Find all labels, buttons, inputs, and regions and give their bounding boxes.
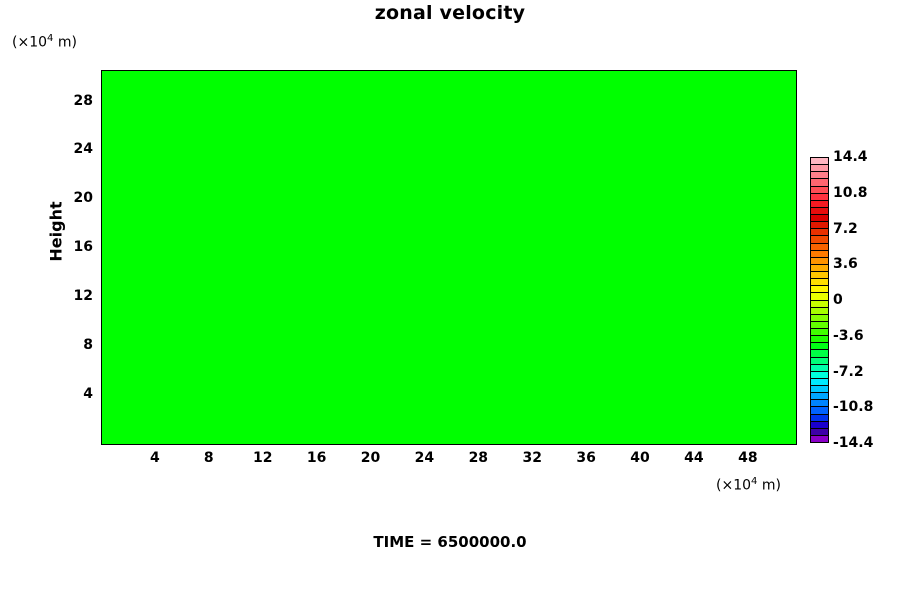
colorbar-segment — [811, 400, 828, 407]
colorbar-segment — [811, 208, 828, 215]
colorbar-tick-label: 14.4 — [833, 149, 868, 165]
colorbar-segment — [811, 429, 828, 436]
colorbar-tick-label: -14.4 — [833, 435, 873, 451]
x-tick-label: 40 — [630, 450, 649, 466]
y-tick-label: 12 — [74, 288, 93, 304]
colorbar-segment — [811, 379, 828, 386]
colorbar-segment — [811, 308, 828, 315]
colorbar-tick-label: 0 — [833, 292, 843, 308]
colorbar-segment — [811, 272, 828, 279]
y-tick-label: 20 — [74, 190, 93, 206]
colorbar-segment — [811, 329, 828, 336]
colorbar-tick-label: -7.2 — [833, 364, 864, 380]
colorbar-segment — [811, 222, 828, 229]
contour-plot-area — [101, 70, 797, 445]
colorbar-tick-label: -3.6 — [833, 328, 864, 344]
colorbar-segment — [811, 358, 828, 365]
x-tick-label: 48 — [738, 450, 757, 466]
colorbar-segment — [811, 407, 828, 414]
colorbar-segment — [811, 386, 828, 393]
y-tick-label: 8 — [83, 337, 93, 353]
figure-root: zonal velocity (×104 m) (×104 m) Height … — [0, 0, 900, 600]
colorbar-segment — [811, 365, 828, 372]
colorbar-segment — [811, 336, 828, 343]
colorbar-segment — [811, 301, 828, 308]
colorbar-segment — [811, 372, 828, 379]
colorbar-tick-label: 10.8 — [833, 185, 868, 201]
time-annotation: TIME = 6500000.0 — [0, 533, 900, 551]
colorbar-segment — [811, 322, 828, 329]
colorbar-segment — [811, 415, 828, 422]
colorbar-segment — [811, 293, 828, 300]
colorbar-segment — [811, 258, 828, 265]
colorbar-segment — [811, 350, 828, 357]
colorbar-segment — [811, 165, 828, 172]
colorbar-segment — [811, 229, 828, 236]
colorbar-segment — [811, 244, 828, 251]
x-tick-label: 32 — [522, 450, 541, 466]
y-tick-label: 28 — [74, 93, 93, 109]
colorbar-segment — [811, 215, 828, 222]
colorbar-segment — [811, 201, 828, 208]
colorbar-segment — [811, 158, 828, 165]
chart-title: zonal velocity — [0, 2, 900, 24]
colorbar-segment — [811, 279, 828, 286]
colorbar-segment — [811, 236, 828, 243]
x-axis-unit-label: (×104 m) — [716, 476, 781, 494]
colorbar-segment — [811, 179, 828, 186]
x-tick-label: 28 — [469, 450, 488, 466]
x-tick-label: 12 — [253, 450, 272, 466]
x-tick-label: 16 — [307, 450, 326, 466]
x-tick-label: 44 — [684, 450, 703, 466]
contour-field-canvas — [102, 71, 796, 444]
colorbar-segment — [811, 343, 828, 350]
colorbar-segment — [811, 265, 828, 272]
x-axis-ticks: 4812162024283236404448 — [101, 450, 795, 470]
colorbar-segment — [811, 194, 828, 201]
colorbar-segment — [811, 187, 828, 194]
x-tick-label: 8 — [204, 450, 214, 466]
colorbar-segment — [811, 436, 828, 442]
y-axis-ticks: 481216202428 — [55, 70, 93, 443]
y-axis-unit-label: (×104 m) — [12, 33, 77, 51]
x-tick-label: 20 — [361, 450, 380, 466]
y-tick-label: 4 — [83, 386, 93, 402]
colorbar — [810, 157, 829, 443]
colorbar-segment — [811, 251, 828, 258]
y-tick-label: 16 — [74, 239, 93, 255]
colorbar-segment — [811, 393, 828, 400]
colorbar-segment — [811, 422, 828, 429]
colorbar-tick-label: 3.6 — [833, 256, 858, 272]
x-tick-label: 36 — [576, 450, 595, 466]
colorbar-segment — [811, 286, 828, 293]
colorbar-tick-labels: 14.410.87.23.60-3.6-7.2-10.8-14.4 — [833, 157, 893, 443]
colorbar-segment — [811, 315, 828, 322]
colorbar-tick-label: -10.8 — [833, 399, 873, 415]
colorbar-tick-label: 7.2 — [833, 221, 858, 237]
x-tick-label: 4 — [150, 450, 160, 466]
colorbar-segment — [811, 172, 828, 179]
x-tick-label: 24 — [415, 450, 434, 466]
y-tick-label: 24 — [74, 141, 93, 157]
